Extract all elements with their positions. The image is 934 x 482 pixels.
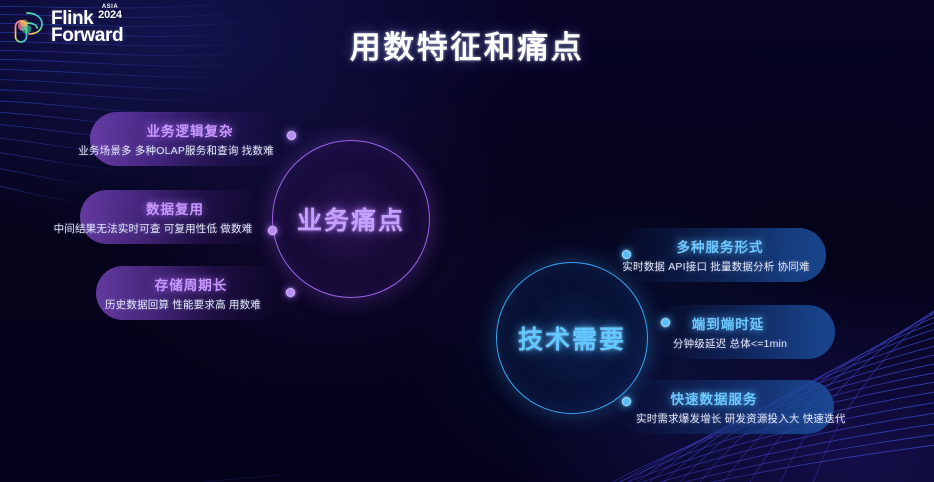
card-left-2-title: 数据复用 bbox=[94, 198, 256, 218]
card-right-1-title: 多种服务形式 bbox=[628, 236, 812, 256]
card-left-3[interactable]: 存储周期长 历史数据回算 性能要求高 用数难 bbox=[96, 266, 286, 320]
connector-dot-right-1 bbox=[622, 250, 631, 259]
card-right-3-title: 快速数据服务 bbox=[608, 388, 820, 408]
card-left-1[interactable]: 业务逻辑复杂 业务场景多 多种OLAP服务和查询 找数难 bbox=[90, 112, 290, 166]
wave-decoration-bottom-left bbox=[0, 392, 280, 482]
logo-badge-year: 2024 bbox=[88, 10, 132, 21]
card-left-1-subtitle: 业务场景多 多种OLAP服务和查询 找数难 bbox=[76, 143, 276, 158]
card-left-2-subtitle: 中间结果无法实时可查 可复用性低 做数难 bbox=[50, 221, 256, 236]
card-left-3-subtitle: 历史数据回算 性能要求高 用数难 bbox=[94, 297, 272, 312]
card-right-3-subtitle: 实时需求爆发增长 研发资源投入大 快速迭代 bbox=[636, 411, 820, 426]
card-right-3[interactable]: 快速数据服务 实时需求爆发增长 研发资源投入大 快速迭代 bbox=[616, 380, 834, 434]
page-title: 用数特征和痛点 bbox=[0, 22, 934, 67]
connector-dot-right-2 bbox=[661, 318, 670, 327]
card-left-1-title: 业务逻辑复杂 bbox=[104, 120, 276, 140]
card-right-1-subtitle: 实时数据 API接口 批量数据分析 协同难 bbox=[620, 259, 812, 274]
card-left-3-title: 存储周期长 bbox=[110, 274, 272, 294]
hub-circle-right-label: 技术需要 bbox=[518, 320, 626, 356]
card-right-1[interactable]: 多种服务形式 实时数据 API接口 批量数据分析 协同难 bbox=[614, 228, 826, 282]
card-right-2-subtitle: 分钟级延迟 总体<=1min bbox=[639, 336, 821, 351]
card-right-2[interactable]: 端到端时延 分钟级延迟 总体<=1min bbox=[655, 305, 835, 359]
connector-dot-left-2 bbox=[268, 226, 277, 235]
hub-circle-business-pain: 业务痛点 bbox=[272, 140, 430, 298]
connector-dot-right-3 bbox=[622, 397, 631, 406]
logo-event-badge: ASIA 2024 bbox=[88, 4, 132, 21]
slide-canvas: Flink Forward ASIA 2024 用数特征和痛点 业务痛点 业务逻… bbox=[0, 0, 934, 482]
connector-dot-left-3 bbox=[286, 288, 295, 297]
hub-circle-left-label: 业务痛点 bbox=[297, 201, 405, 237]
card-left-2[interactable]: 数据复用 中间结果无法实时可查 可复用性低 做数难 bbox=[80, 190, 270, 244]
connector-dot-left-1 bbox=[287, 131, 296, 140]
